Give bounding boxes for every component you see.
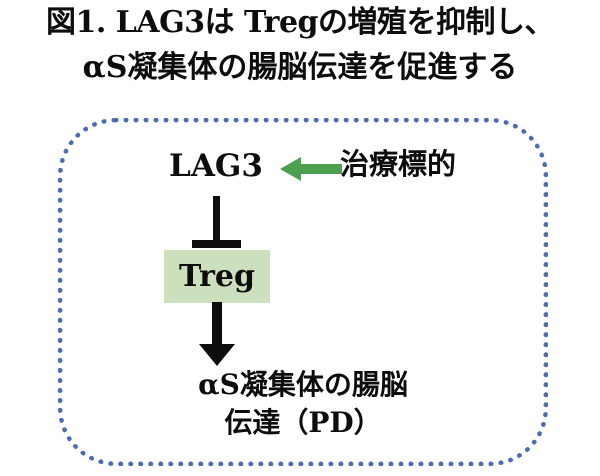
node-outcome-line-2: 伝達（PD）	[68, 404, 538, 442]
node-outcome-line-1: αS凝集体の腸脳	[68, 366, 538, 404]
arrow-down-icon	[198, 302, 236, 366]
figure-title-line-2: αS凝集体の腸脳伝達を促進する	[0, 45, 600, 90]
inhibition-stem	[213, 196, 220, 242]
node-therapy-target: 治療標的	[340, 146, 510, 182]
node-lag3: LAG3	[168, 148, 264, 184]
arrow-left-icon	[280, 156, 342, 182]
figure-title-line-1: 図1. LAG3は Tregの増殖を抑制し、	[0, 0, 600, 45]
inhibition-bar-icon	[186, 196, 246, 250]
diagram-content: LAG3 治療標的 Treg αS凝集体の腸脳 伝達（PD）	[58, 118, 548, 466]
inhibition-crossbar	[192, 240, 241, 248]
diagram-panel: LAG3 治療標的 Treg αS凝集体の腸脳 伝達（PD）	[58, 118, 548, 466]
figure-title: 図1. LAG3は Tregの増殖を抑制し、 αS凝集体の腸脳伝達を促進する	[0, 0, 600, 90]
node-treg-label: Treg	[179, 260, 255, 294]
node-outcome: αS凝集体の腸脳 伝達（PD）	[68, 366, 538, 442]
node-treg: Treg	[164, 250, 270, 303]
